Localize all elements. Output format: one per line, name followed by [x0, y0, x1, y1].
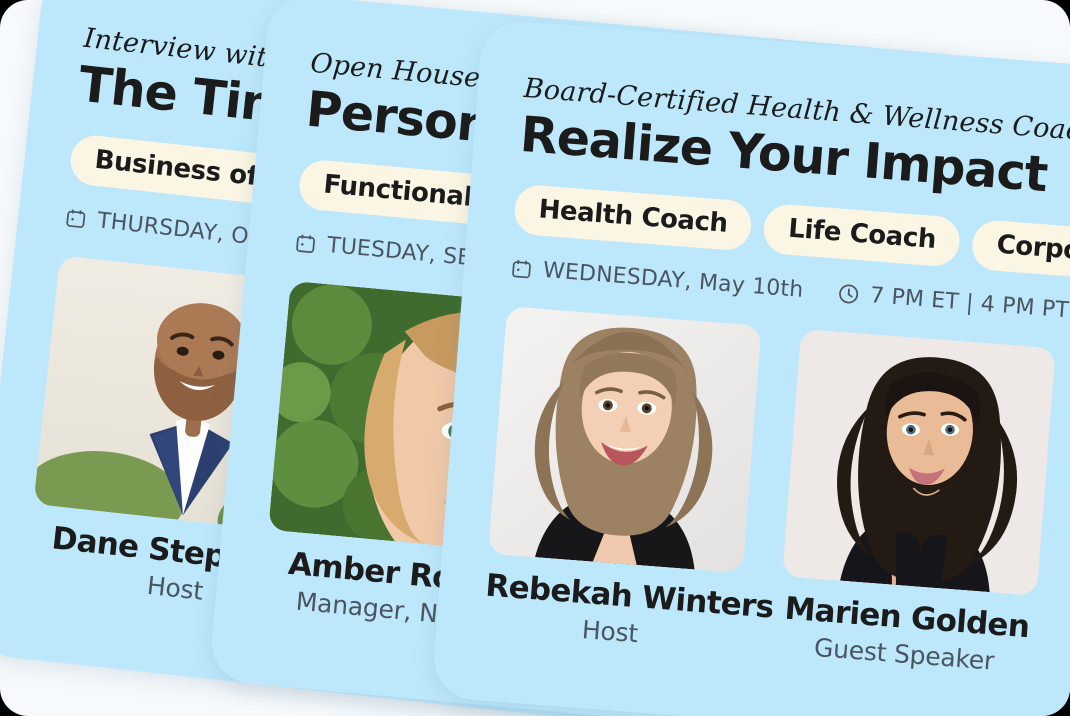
- avatar-rebekah: [488, 306, 761, 573]
- calendar-icon: [293, 230, 318, 255]
- event-card-front[interactable]: Board-Certified Health & Wellness Coache…: [431, 19, 1070, 716]
- person[interactable]: Rebekah Winters Host: [482, 306, 762, 656]
- calendar-icon: [509, 256, 534, 281]
- avatar-marien: [782, 328, 1055, 595]
- card-date-label: WEDNESDAY, May 10th: [542, 257, 804, 302]
- person[interactable]: Marien Golden Guest Speaker: [776, 328, 1056, 678]
- card-date: WEDNESDAY, May 10th: [509, 255, 804, 302]
- card-tag-life-coach[interactable]: Life Coach: [763, 202, 962, 267]
- person-photo: [488, 306, 761, 573]
- card-content: Board-Certified Health & Wellness Coache…: [436, 19, 1070, 689]
- card-time-label: 7 PM ET | 4 PM PT: [869, 283, 1070, 323]
- person-photo: [782, 328, 1055, 595]
- calendar-icon: [63, 205, 88, 230]
- card-people: Rebekah Winters Host: [482, 306, 1070, 686]
- page-root: Interview with a Coach The Time is Now B…: [0, 0, 1070, 716]
- clock-icon: [836, 281, 861, 306]
- card-tag-corporate[interactable]: Corporate: [971, 218, 1070, 283]
- card-time: 7 PM ET | 4 PM PT: [836, 280, 1070, 323]
- card-tag-health-coach[interactable]: Health Coach: [513, 183, 754, 251]
